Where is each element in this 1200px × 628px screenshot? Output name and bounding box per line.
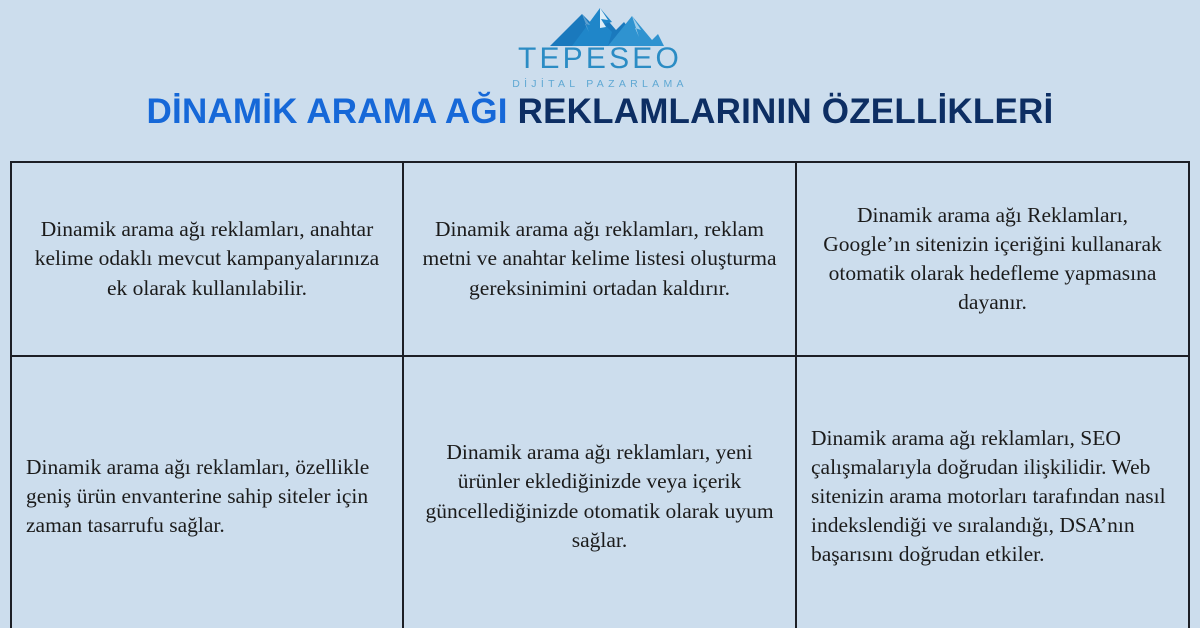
- table-row: Dinamik arama ağı reklamları, anahtar ke…: [11, 162, 1189, 356]
- brand-wordmark: TEPESEO: [518, 44, 682, 74]
- table-cell-r1c2: Dinamik arama ağı reklamları, reklam met…: [403, 162, 796, 356]
- infographic-page: TEPESEO DİJİTAL PAZARLAMA DİNAMİK ARAMA …: [0, 0, 1200, 628]
- features-table: Dinamik arama ağı reklamları, anahtar ke…: [10, 161, 1190, 628]
- table-cell-r2c1: Dinamik arama ağı reklamları, özellikle …: [11, 356, 403, 628]
- table-cell-r2c3: Dinamik arama ağı reklamları, SEO çalışm…: [796, 356, 1189, 628]
- table-cell-r1c3: Dinamik arama ağı Reklamları, Google’ın …: [796, 162, 1189, 356]
- brand-tagline: DİJİTAL PAZARLAMA: [512, 79, 688, 90]
- page-title-main: REKLAMLARININ ÖZELLİKLERİ: [518, 92, 1054, 131]
- table-row: Dinamik arama ağı reklamları, özellikle …: [11, 356, 1189, 628]
- table-cell-r1c1: Dinamik arama ağı reklamları, anahtar ke…: [11, 162, 403, 356]
- brand-logo: TEPESEO DİJİTAL PAZARLAMA: [0, 0, 1200, 92]
- page-title-accent: DİNAMİK ARAMA AĞI: [147, 92, 508, 131]
- table-cell-r2c2: Dinamik arama ağı reklamları, yeni ürünl…: [403, 356, 796, 628]
- page-title: DİNAMİK ARAMA AĞI REKLAMLARININ ÖZELLİKL…: [0, 94, 1200, 131]
- mountain-peaks-icon: [512, 6, 688, 46]
- features-table-wrapper: Dinamik arama ağı reklamları, anahtar ke…: [10, 161, 1188, 628]
